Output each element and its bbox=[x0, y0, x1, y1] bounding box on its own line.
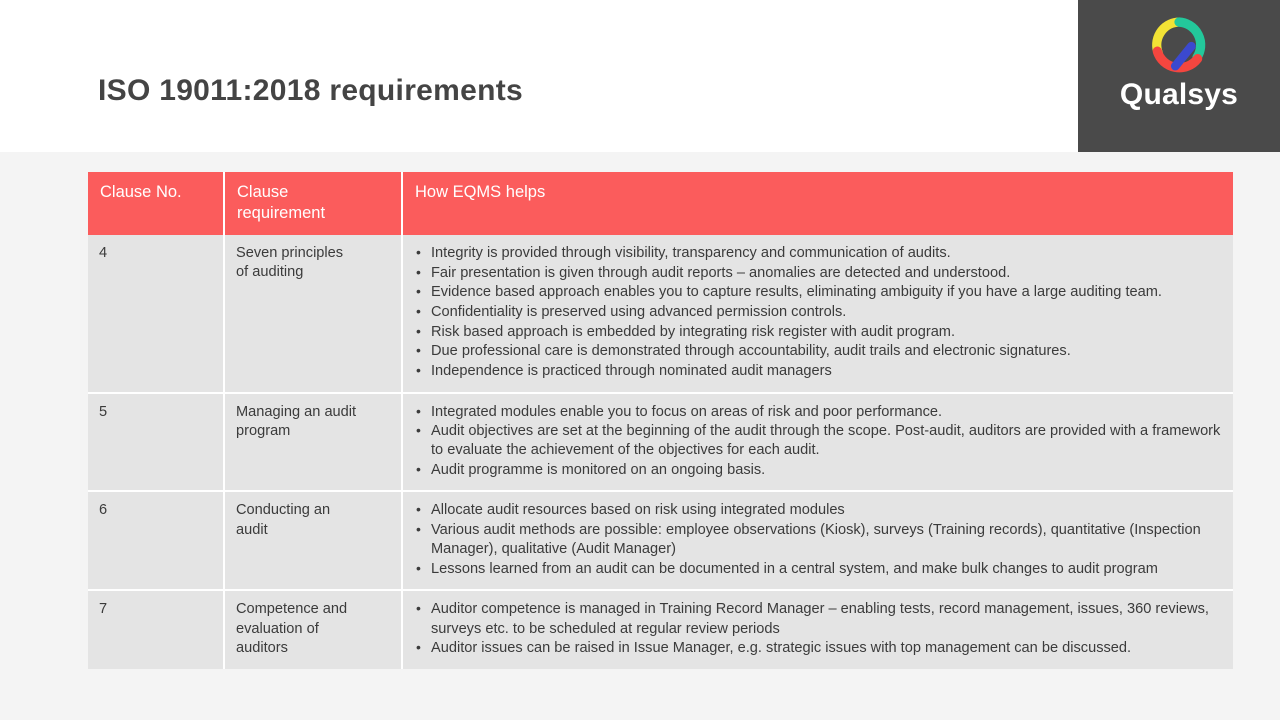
requirement-text: Conducting an audit bbox=[236, 502, 330, 537]
cell-clause-requirement: Managing an audit program bbox=[225, 394, 403, 493]
cell-clause-no: 5 bbox=[88, 394, 225, 493]
list-item: Due professional care is demonstrated th… bbox=[413, 342, 1223, 361]
column-header-clause-requirement: Clause requirement bbox=[225, 172, 403, 235]
list-item: Risk based approach is embedded by integ… bbox=[413, 323, 1223, 342]
cell-clause-no: 6 bbox=[88, 492, 225, 591]
cell-clause-no: 7 bbox=[88, 591, 225, 668]
brand-logo-block: Qualsys bbox=[1078, 0, 1280, 152]
list-item: Confidentiality is preserved using advan… bbox=[413, 303, 1223, 322]
table-header: Clause No. Clause requirement How EQMS h… bbox=[88, 172, 1233, 235]
cell-how-eqms-helps: Integrated modules enable you to focus o… bbox=[403, 394, 1233, 493]
column-header-clause-no: Clause No. bbox=[88, 172, 225, 235]
slide-header-banner: ISO 19011:2018 requirements Qualsys bbox=[0, 0, 1280, 152]
cell-clause-requirement: Competence and evaluation of auditors bbox=[225, 591, 403, 668]
requirement-text: Seven principles of auditing bbox=[236, 245, 343, 280]
table-row: 6 Conducting an audit Allocate audit res… bbox=[88, 492, 1233, 591]
bullet-list: Auditor competence is managed in Trainin… bbox=[413, 600, 1223, 658]
column-header-how-eqms-helps: How EQMS helps bbox=[403, 172, 1233, 235]
requirement-text: Managing an audit program bbox=[236, 404, 356, 439]
list-item: Auditor competence is managed in Trainin… bbox=[413, 600, 1223, 638]
qualsys-q-ring-logo bbox=[1145, 14, 1213, 76]
cell-clause-requirement: Conducting an audit bbox=[225, 492, 403, 591]
list-item: Lessons learned from an audit can be doc… bbox=[413, 560, 1223, 579]
table-body: 4 Seven principles of auditing Integrity… bbox=[88, 235, 1233, 668]
cell-clause-requirement: Seven principles of auditing bbox=[225, 235, 403, 393]
cell-clause-no: 4 bbox=[88, 235, 225, 393]
list-item: Allocate audit resources based on risk u… bbox=[413, 501, 1223, 520]
table-header-row: Clause No. Clause requirement How EQMS h… bbox=[88, 172, 1233, 235]
table-row: 7 Competence and evaluation of auditors … bbox=[88, 591, 1233, 668]
list-item: Integrity is provided through visibility… bbox=[413, 244, 1223, 263]
bullet-list: Integrated modules enable you to focus o… bbox=[413, 403, 1223, 480]
brand-wordmark: Qualsys bbox=[1120, 80, 1238, 110]
list-item: Integrated modules enable you to focus o… bbox=[413, 403, 1223, 422]
iso-requirements-table: Clause No. Clause requirement How EQMS h… bbox=[88, 172, 1233, 669]
requirement-text: Competence and evaluation of auditors bbox=[236, 601, 347, 655]
page-title: ISO 19011:2018 requirements bbox=[98, 74, 523, 108]
bullet-list: Allocate audit resources based on risk u… bbox=[413, 501, 1223, 578]
table-row: 5 Managing an audit program Integrated m… bbox=[88, 394, 1233, 493]
cell-how-eqms-helps: Allocate audit resources based on risk u… bbox=[403, 492, 1233, 591]
cell-how-eqms-helps: Integrity is provided through visibility… bbox=[403, 235, 1233, 393]
list-item: Fair presentation is given through audit… bbox=[413, 264, 1223, 283]
list-item: Audit objectives are set at the beginnin… bbox=[413, 422, 1223, 460]
list-item: Audit programme is monitored on an ongoi… bbox=[413, 461, 1223, 480]
cell-how-eqms-helps: Auditor competence is managed in Trainin… bbox=[403, 591, 1233, 668]
list-item: Auditor issues can be raised in Issue Ma… bbox=[413, 639, 1223, 658]
list-item: Various audit methods are possible: empl… bbox=[413, 521, 1223, 559]
bullet-list: Integrity is provided through visibility… bbox=[413, 244, 1223, 381]
table-row: 4 Seven principles of auditing Integrity… bbox=[88, 235, 1233, 393]
list-item: Evidence based approach enables you to c… bbox=[413, 283, 1223, 302]
list-item: Independence is practiced through nomina… bbox=[413, 362, 1223, 381]
